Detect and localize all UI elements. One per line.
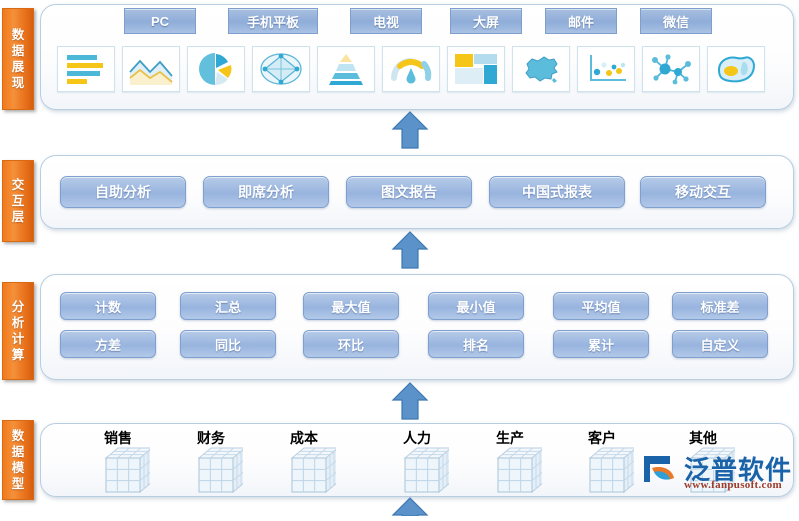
interaction-item-chinese-style-report[interactable]: 中国式报表 — [489, 176, 625, 208]
data-cube-production[interactable] — [484, 446, 542, 503]
arrow-datamodel-to-analysis — [390, 381, 430, 426]
treemap-chart-icon — [453, 52, 499, 86]
chart-icon-card-pie[interactable] — [187, 46, 245, 92]
data-cube-customer[interactable] — [576, 446, 634, 503]
data-cube-sales[interactable] — [92, 446, 150, 503]
china-map-icon — [518, 52, 564, 86]
tab-char: 交 — [12, 177, 25, 193]
line-chart-icon — [128, 52, 174, 86]
tab-char: 分 — [12, 299, 25, 315]
chart-icon-card-treemap[interactable] — [447, 46, 505, 92]
layer-tab-analysis[interactable]: 分 析 计 算 — [2, 282, 34, 380]
interaction-item-mobile-interaction[interactable]: 移动交互 — [640, 176, 766, 208]
tab-char: 析 — [12, 315, 25, 331]
cube-label-finance: 财务 — [181, 428, 241, 448]
radar-chart-icon — [258, 51, 304, 87]
channel-button-email[interactable]: 邮件 — [545, 8, 617, 34]
layer-tab-datamodel[interactable]: 数 据 模 型 — [2, 420, 34, 500]
interaction-item-self-service-analysis[interactable]: 自助分析 — [60, 176, 186, 208]
analysis-panel — [40, 274, 794, 380]
tab-char: 算 — [12, 347, 25, 363]
data-cube-cost[interactable] — [278, 446, 336, 503]
cube-graphic — [92, 446, 150, 498]
pie-chart-icon — [195, 51, 237, 87]
cube-label-hr: 人力 — [387, 428, 447, 448]
cube-graphic — [278, 446, 336, 498]
tab-char: 数 — [12, 428, 25, 444]
cube-graphic — [576, 446, 634, 498]
tab-char: 互 — [12, 193, 25, 209]
tab-char: 据 — [12, 444, 25, 460]
tab-char: 据 — [12, 43, 25, 59]
network-graph-icon — [648, 52, 694, 86]
layer-tab-presentation[interactable]: 数 据 展 现 — [2, 8, 34, 110]
analysis-item-count[interactable]: 计数 — [60, 292, 156, 320]
analysis-item-custom[interactable]: 自定义 — [672, 330, 768, 358]
cube-label-production: 生产 — [480, 428, 540, 448]
data-cube-hr[interactable] — [391, 446, 449, 503]
analysis-item-mom[interactable]: 环比 — [303, 330, 399, 358]
analysis-item-min[interactable]: 最小值 — [428, 292, 524, 320]
tab-char: 现 — [12, 75, 25, 91]
architecture-diagram: 数 据 展 现 PC 手机平板 电视 大屏 邮件 微信 — [0, 0, 799, 503]
chart-icon-card-line[interactable] — [122, 46, 180, 92]
tab-char: 型 — [12, 476, 25, 492]
analysis-item-yoy[interactable]: 同比 — [180, 330, 276, 358]
analysis-item-average[interactable]: 平均值 — [553, 292, 649, 320]
tab-char: 层 — [12, 209, 25, 225]
bubble-map-icon — [713, 52, 759, 86]
cube-label-sales: 销售 — [88, 428, 148, 448]
analysis-item-variance[interactable]: 方差 — [60, 330, 156, 358]
channel-button-pc[interactable]: PC — [124, 8, 196, 34]
cube-graphic — [185, 446, 243, 498]
gauge-chart-icon — [388, 52, 434, 86]
fanpu-logo-icon — [640, 452, 680, 486]
channel-button-tv[interactable]: 电视 — [350, 8, 422, 34]
analysis-item-sum[interactable]: 汇总 — [180, 292, 276, 320]
chart-icon-card-radar[interactable] — [252, 46, 310, 92]
chart-icon-card-bubble-map[interactable] — [707, 46, 765, 92]
scatter-chart-icon — [583, 52, 629, 86]
cube-graphic — [391, 446, 449, 498]
analysis-item-cumulative[interactable]: 累计 — [553, 330, 649, 358]
cube-label-cost: 成本 — [274, 428, 334, 448]
arrow-interaction-to-presentation — [390, 110, 430, 155]
chart-icon-card-scatter[interactable] — [577, 46, 635, 92]
chart-icon-card-network[interactable] — [642, 46, 700, 92]
layer-tab-interaction[interactable]: 交 互 层 — [2, 160, 34, 242]
pyramid-chart-icon — [323, 52, 369, 86]
tab-char: 计 — [12, 331, 25, 347]
tab-char: 数 — [12, 27, 25, 43]
interaction-item-adhoc-analysis[interactable]: 即席分析 — [203, 176, 329, 208]
cube-label-customer: 客户 — [572, 428, 632, 448]
data-cube-finance[interactable] — [185, 446, 243, 503]
arrow-bottom-to-datamodel — [390, 496, 430, 521]
tab-char: 模 — [12, 460, 25, 476]
chart-icon-card-bar[interactable] — [57, 46, 115, 92]
channel-button-mobile-tablet[interactable]: 手机平板 — [228, 8, 318, 34]
tab-char: 展 — [12, 59, 25, 75]
cube-label-other: 其他 — [673, 428, 733, 448]
bar-chart-icon — [64, 52, 108, 86]
cube-graphic — [484, 446, 542, 498]
interaction-item-graphic-report[interactable]: 图文报告 — [346, 176, 472, 208]
analysis-item-stddev[interactable]: 标准差 — [672, 292, 768, 320]
arrow-analysis-to-interaction — [390, 230, 430, 275]
watermark: 泛普软件 www.fanpusoft.com — [640, 450, 796, 496]
channel-button-wechat[interactable]: 微信 — [640, 8, 712, 34]
watermark-url: www.fanpusoft.com — [684, 479, 782, 491]
chart-icon-card-china-map[interactable] — [512, 46, 570, 92]
chart-icon-card-pyramid[interactable] — [317, 46, 375, 92]
chart-icon-card-gauge[interactable] — [382, 46, 440, 92]
analysis-item-max[interactable]: 最大值 — [303, 292, 399, 320]
channel-button-large-screen[interactable]: 大屏 — [450, 8, 522, 34]
analysis-item-ranking[interactable]: 排名 — [428, 330, 524, 358]
